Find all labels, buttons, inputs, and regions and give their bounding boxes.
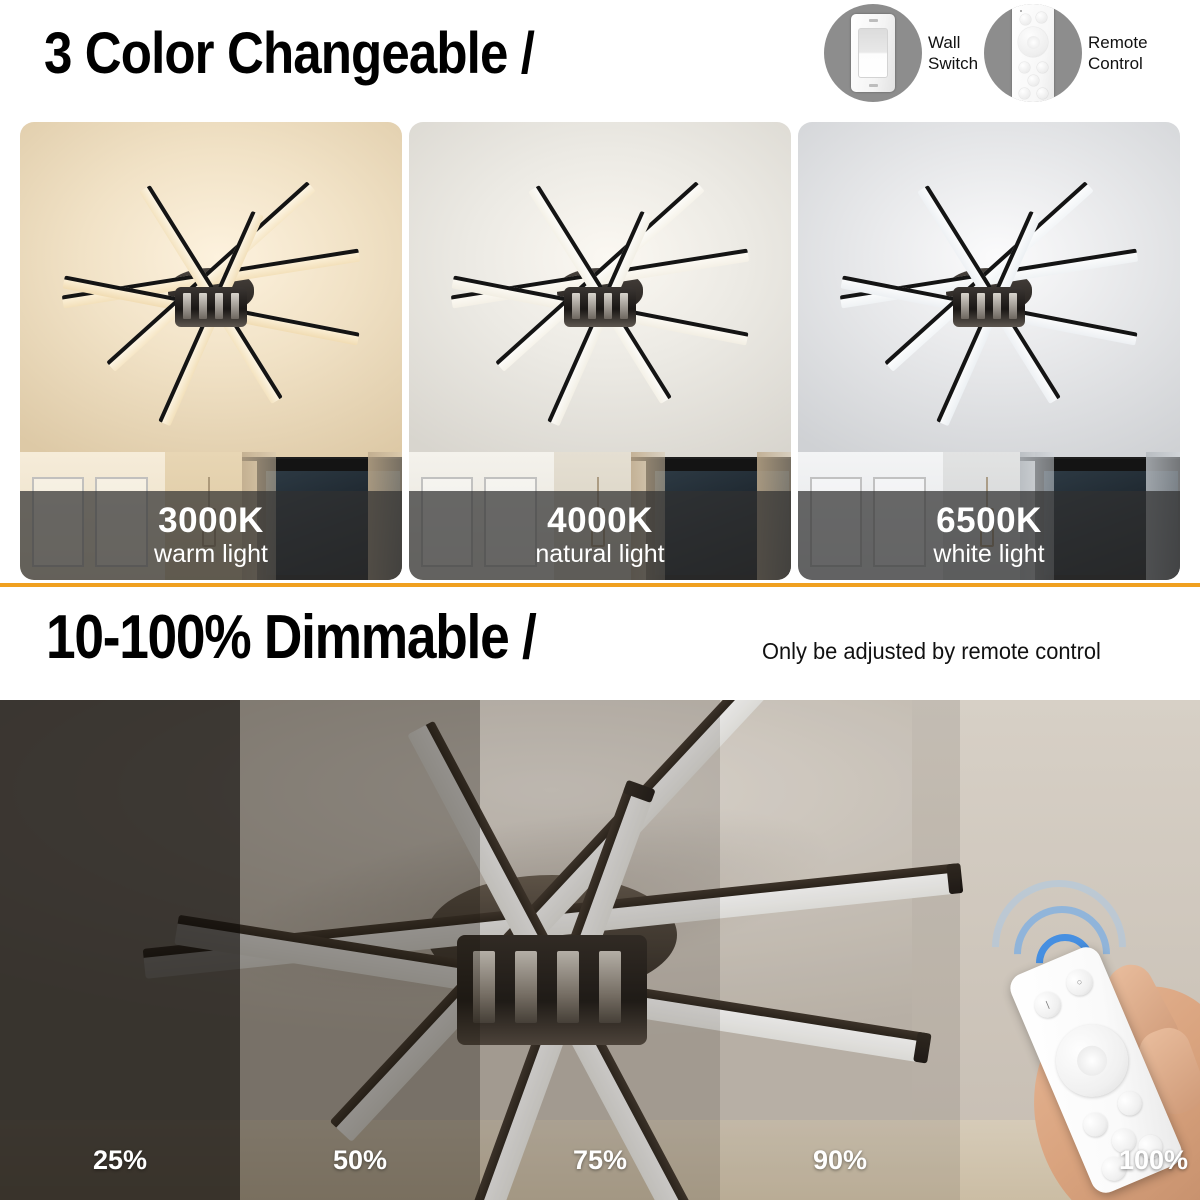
hub-slat-3 [604,293,612,319]
switch-plate [851,14,895,92]
panel-label-6500k: 6500K white light [798,491,1180,580]
panel-kelvin: 4000K [547,502,653,540]
wall-switch-icon [824,4,922,102]
remote-schedule-button [1037,88,1048,99]
led-bar-3 [495,181,704,371]
led-bar-3 [884,181,1093,371]
dim-band-100[interactable]: 100% [960,700,1200,1200]
dim-band-label: 50% [333,1145,387,1176]
remote-control-label-line2: Control [1088,53,1148,74]
dim-band-label: 100% [1119,1145,1188,1176]
remote-control-control: Remote Control [984,4,1148,102]
hub-slat-2 [977,293,985,319]
led-tube-3 [495,181,704,371]
remote-control-label: Remote Control [1088,32,1148,74]
rocker-switch [858,28,888,78]
wall-switch-label: Wall Switch [928,32,978,74]
remote-brightness-button [1037,62,1048,73]
remote-timer-button [1036,12,1047,23]
panel-label-3000k: 3000K warm light [20,491,402,580]
hub-slat-1 [572,293,580,319]
remote-control-icon [984,4,1082,102]
fixture-hub-ring [175,287,247,327]
panel-description: natural light [535,540,664,569]
color-panel-4000k[interactable]: 4000K natural light [409,122,791,580]
remote-power-button [1020,14,1031,25]
dimming-level-bands: 25% 50% 75% 90% 100% [0,700,1200,1200]
remote-bulb-button [1028,75,1039,86]
wall-switch-control: Wall Switch [824,4,978,102]
remote-night-mode-button [1019,88,1030,99]
color-temperature-panels: 3000K warm light [0,122,1200,582]
hub-slat-3 [993,293,1001,319]
wall-switch-label-line1: Wall [928,32,978,53]
dimmable-title: 10-100% Dimmable / [46,602,536,673]
color-panel-6500k[interactable]: 6500K white light [798,122,1180,580]
plate-screw-top [869,19,878,22]
dim-band-25[interactable]: 25% [0,700,240,1200]
hub-slat-4 [1009,293,1017,319]
wall-switch-label-line2: Switch [928,53,978,74]
color-panel-3000k[interactable]: 3000K warm light [20,122,402,580]
hub-slat-2 [199,293,207,319]
remote-dpad [1018,27,1048,57]
led-bar-3 [106,181,315,371]
plate-screw-bottom [869,84,878,87]
led-fixture-warm [31,158,391,398]
remote-fan-hub [1027,36,1040,49]
dim-band-label: 90% [813,1145,867,1176]
led-fixture-cool [809,158,1169,398]
panel-description: warm light [154,540,268,569]
panel-label-4000k: 4000K natural light [409,491,791,580]
hub-slat-1 [183,293,191,319]
dim-band-75[interactable]: 75% [480,700,720,1200]
fixture-hub-ring [564,287,636,327]
led-tube-3 [884,181,1093,371]
dim-band-label: 75% [573,1145,627,1176]
hub-slat-4 [231,293,239,319]
dim-band-90[interactable]: 90% [720,700,960,1200]
led-fixture-natural [420,158,780,398]
panel-kelvin: 3000K [158,502,264,540]
dimmable-header: 10-100% Dimmable / Only be adjusted by r… [0,588,1200,700]
hub-slat-4 [620,293,628,319]
dimming-demo-photo: | ○ 25% 50% 75% 90% 100% [0,700,1200,1200]
hub-slat-2 [588,293,596,319]
dimmable-subtitle: Only be adjusted by remote control [762,638,1101,665]
section-divider [0,583,1200,587]
fixture-hub-ring [953,287,1025,327]
remote-body [1012,4,1054,102]
dim-band-50[interactable]: 50% [240,700,480,1200]
panel-description: white light [933,540,1044,569]
remote-led [1020,10,1022,12]
hub-slat-1 [961,293,969,319]
remote-control-label-line1: Remote [1088,32,1148,53]
panel-kelvin: 6500K [936,502,1042,540]
led-tube-3 [106,181,315,371]
remote-light-toggle-button [1019,62,1030,73]
page-header: 3 Color Changeable / Wall Switch [0,0,1200,118]
page-title: 3 Color Changeable / [44,20,534,87]
hub-slat-3 [215,293,223,319]
dim-band-label: 25% [93,1145,147,1176]
